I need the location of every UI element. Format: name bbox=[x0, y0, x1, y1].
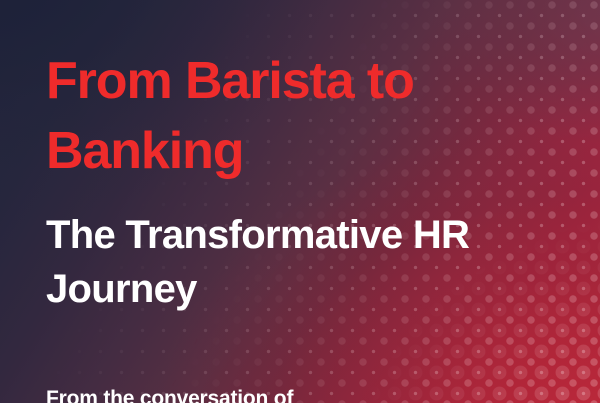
headline-title: From Barista to Banking bbox=[46, 46, 516, 186]
card-text-block: From Barista to Banking The Transformati… bbox=[46, 0, 582, 403]
hero-banner-card: From Barista to Banking The Transformati… bbox=[0, 0, 600, 403]
deck-text: From the conversation of bbox=[46, 385, 293, 403]
subheadline-title: The Transformative HR Journey bbox=[46, 208, 526, 316]
